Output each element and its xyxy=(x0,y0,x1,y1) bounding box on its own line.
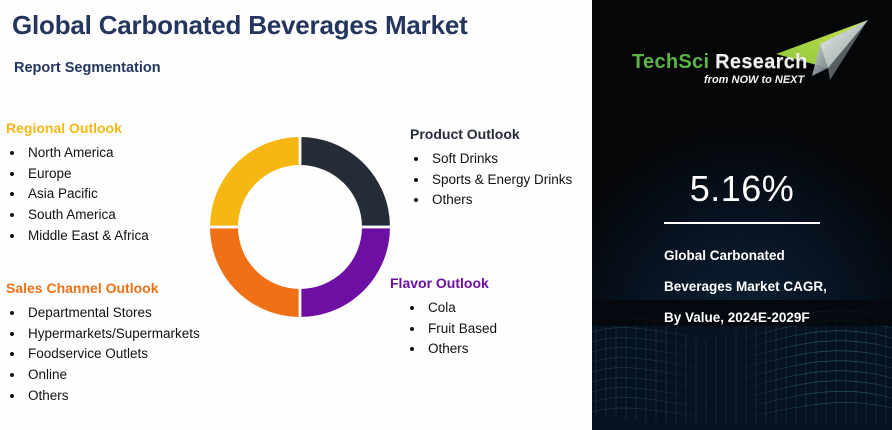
list-item: Asia Pacific xyxy=(6,184,149,205)
bullet-icon xyxy=(10,192,14,196)
segment-heading-product: Product Outlook xyxy=(410,126,572,142)
bullet-icon xyxy=(10,332,14,336)
logo-text-research: Research xyxy=(709,51,807,73)
cagr-caption: Global Carbonated Beverages Market CAGR,… xyxy=(664,240,884,333)
list-item: South America xyxy=(6,205,149,226)
list-item-label: Soft Drinks xyxy=(432,151,498,166)
list-item-label: Sports & Energy Drinks xyxy=(432,172,572,187)
segment-list-flavor: Cola Fruit Based Others xyxy=(390,298,497,360)
list-item-label: Online xyxy=(28,367,67,382)
logo-tagline: from NOW to NEXT xyxy=(704,74,804,86)
list-item-label: Others xyxy=(432,192,473,207)
list-item: Soft Drinks xyxy=(410,149,572,170)
page-title: Global Carbonated Beverages Market xyxy=(12,10,468,41)
list-item: Foodservice Outlets xyxy=(6,344,200,365)
bullet-icon xyxy=(10,213,14,217)
list-item-label: Departmental Stores xyxy=(28,305,152,320)
cagr-value: 5.16% xyxy=(592,168,892,210)
segment-list-product: Soft Drinks Sports & Energy Drinks Other… xyxy=(410,149,572,211)
bullet-icon xyxy=(10,373,14,377)
cagr-divider xyxy=(664,222,820,224)
cagr-caption-line: By Value, 2024E-2029F xyxy=(664,302,884,333)
list-item: Departmental Stores xyxy=(6,303,200,324)
list-item-label: Cola xyxy=(428,300,456,315)
donut-slice-product xyxy=(300,137,390,227)
bullet-icon xyxy=(410,306,414,310)
list-item: Europe xyxy=(6,164,149,185)
logo-text-techsci: TechSci xyxy=(632,51,709,73)
bullet-icon xyxy=(10,352,14,356)
list-item-label: Middle East & Africa xyxy=(28,228,149,243)
bullet-icon xyxy=(10,151,14,155)
segment-block-sales-channel: Sales Channel Outlook Departmental Store… xyxy=(6,280,200,407)
segment-block-flavor: Flavor Outlook Cola Fruit Based Others xyxy=(390,275,497,360)
list-item: Hypermarkets/Supermarkets xyxy=(6,324,200,345)
donut-slice-regional xyxy=(210,137,300,227)
list-item: Fruit Based xyxy=(390,319,497,340)
bullet-icon xyxy=(10,394,14,398)
list-item-label: Fruit Based xyxy=(428,321,497,336)
segment-heading-regional: Regional Outlook xyxy=(6,120,149,136)
list-item-label: Foodservice Outlets xyxy=(28,346,148,361)
segmentation-donut-chart xyxy=(210,137,390,317)
segment-heading-flavor: Flavor Outlook xyxy=(390,275,497,291)
list-item: Others xyxy=(390,339,497,360)
segment-list-regional: North America Europe Asia Pacific South … xyxy=(6,143,149,247)
report-segmentation-subtitle: Report Segmentation xyxy=(14,60,161,76)
bullet-icon xyxy=(410,347,414,351)
list-item: Others xyxy=(6,386,200,407)
brand-cagr-panel: TechSci Research from NOW to NEXT 5.16% … xyxy=(592,0,892,430)
bullet-icon xyxy=(414,178,418,182)
list-item-label: South America xyxy=(28,207,116,222)
bullet-icon xyxy=(10,172,14,176)
list-item: Sports & Energy Drinks xyxy=(410,170,572,191)
list-item: Others xyxy=(410,190,572,211)
segment-block-product: Product Outlook Soft Drinks Sports & Ene… xyxy=(410,126,572,211)
donut-slice-sales-channel xyxy=(210,227,300,317)
donut-slice-flavor xyxy=(300,227,390,317)
infographic-root: Global Carbonated Beverages Market Repor… xyxy=(0,0,892,430)
list-item: North America xyxy=(6,143,149,164)
cagr-caption-line: Global Carbonated xyxy=(664,240,884,271)
bullet-icon xyxy=(414,157,418,161)
list-item-label: Others xyxy=(428,341,469,356)
segment-list-sales-channel: Departmental Stores Hypermarkets/Superma… xyxy=(6,303,200,407)
segment-heading-sales-channel: Sales Channel Outlook xyxy=(6,280,200,296)
list-item: Cola xyxy=(390,298,497,319)
logo-wordmark: TechSci Research xyxy=(632,52,808,72)
list-item-label: Others xyxy=(28,388,69,403)
list-item-label: North America xyxy=(28,145,114,160)
bullet-icon xyxy=(10,234,14,238)
bullet-icon xyxy=(10,311,14,315)
list-item: Online xyxy=(6,365,200,386)
segmentation-panel: Global Carbonated Beverages Market Repor… xyxy=(0,0,592,430)
segment-block-regional: Regional Outlook North America Europe As… xyxy=(6,120,149,247)
list-item-label: Hypermarkets/Supermarkets xyxy=(28,326,200,341)
cagr-caption-line: Beverages Market CAGR, xyxy=(664,271,884,302)
list-item-label: Europe xyxy=(28,166,72,181)
bullet-icon xyxy=(414,198,418,202)
list-item-label: Asia Pacific xyxy=(28,186,98,201)
bullet-icon xyxy=(410,327,414,331)
techsci-research-logo: TechSci Research from NOW to NEXT xyxy=(626,14,874,92)
list-item: Middle East & Africa xyxy=(6,226,149,247)
